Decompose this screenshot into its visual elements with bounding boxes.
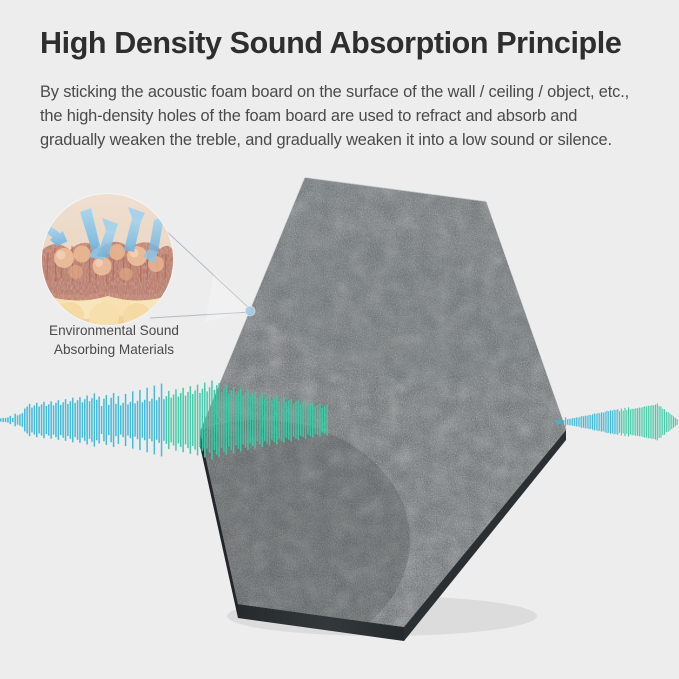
page-title: High Density Sound Absorption Principle xyxy=(40,26,650,61)
inset-caption: Environmental Sound Absorbing Materials xyxy=(18,322,210,359)
magnifier-inset xyxy=(42,194,173,325)
product-infographic: Environmental Sound Absorbing Materials … xyxy=(0,0,679,679)
panel-face xyxy=(110,120,610,660)
inset-caption-line2: Absorbing Materials xyxy=(18,341,210,360)
description-text: By sticking the acoustic foam board on t… xyxy=(40,80,640,153)
inset-caption-line1: Environmental Sound xyxy=(18,322,210,341)
